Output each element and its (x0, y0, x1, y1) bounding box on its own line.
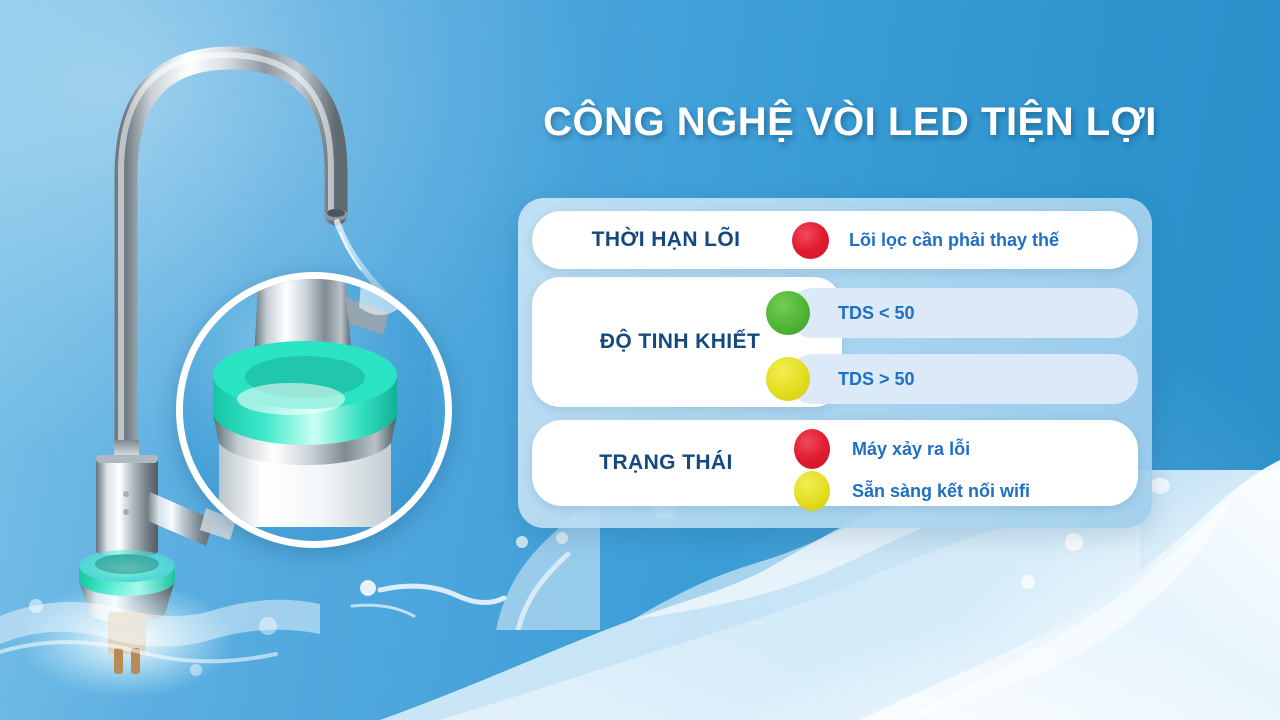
state-option-red: Máy xảy ra lỗi (794, 428, 1124, 470)
led-indicator-yellow-icon (766, 357, 810, 401)
status-description: Sẵn sàng kết nối wifi (852, 481, 1030, 502)
state-options: Máy xảy ra lỗi Sẵn sàng kết nối wifi (794, 428, 1124, 512)
status-description: Lõi lọc cần phải thay thế (849, 230, 1059, 251)
status-row-fault-duration: THỜI HẠN LÕI Lõi lọc cần phải thay thế (532, 211, 1138, 269)
status-description: Máy xảy ra lỗi (852, 439, 970, 460)
purity-option-yellow: TDS > 50 (788, 354, 1138, 404)
led-status-panel: THỜI HẠN LÕI Lõi lọc cần phải thay thế Đ… (518, 198, 1152, 528)
poster-canvas: CÔNG NGHỆ VÒI LED TIỆN LỢI THỜI HẠN LÕI … (0, 0, 1280, 720)
status-description: TDS > 50 (838, 369, 915, 390)
led-indicator-green-icon (766, 291, 810, 335)
led-indicator-red-icon (792, 222, 829, 259)
magnifier-circle (176, 272, 452, 548)
state-option-yellow: Sẵn sàng kết nối wifi (794, 470, 1124, 512)
row-label-fault-duration: THỜI HẠN LÕI (540, 228, 792, 252)
status-description: TDS < 50 (838, 303, 915, 324)
status-item: Lõi lọc cần phải thay thế (792, 222, 1059, 259)
led-indicator-red-icon (794, 429, 830, 469)
row-label-state: TRẠNG THÁI (540, 451, 792, 475)
page-title: CÔNG NGHỆ VÒI LED TIỆN LỢI (500, 100, 1200, 144)
purity-option-green: TDS < 50 (788, 288, 1138, 338)
led-indicator-yellow-icon (794, 471, 830, 511)
